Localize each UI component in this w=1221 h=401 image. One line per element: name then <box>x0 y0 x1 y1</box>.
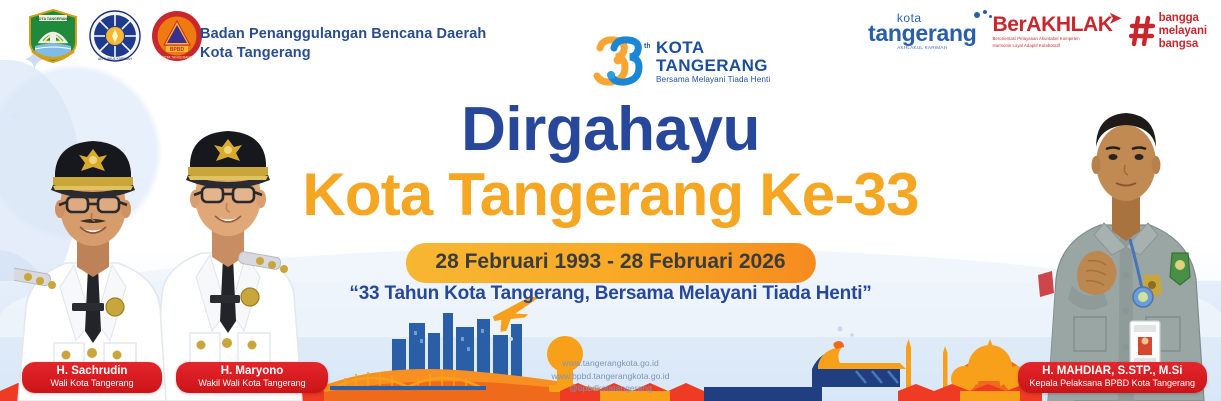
nameplate-bpbd-head-role: Kepala Pelaksana BPBD Kota Tangerang <box>1030 378 1195 389</box>
svg-text:KOTA TANGERANG: KOTA TANGERANG <box>36 17 70 21</box>
website-main: www.tangerangkota.go.id <box>551 357 669 370</box>
bangga-line3: bangsa <box>1159 38 1207 51</box>
anniversary-logo-line1: KOTA <box>656 39 770 56</box>
anniversary-logo-line2: TANGERANG <box>656 57 770 74</box>
akhlakul-karimah-emblem-icon: AKHLAKUL KARIMAH <box>88 8 142 64</box>
svg-text:AKHLAKUL KARIMAH: AKHLAKUL KARIMAH <box>98 57 133 61</box>
anniversary-logo-text: KOTA TANGERANG Bersama Melayani Tiada He… <box>656 39 770 84</box>
nameplate-mayor: H. Sachrudin Wali Kota Tangerang <box>22 362 162 393</box>
agency-crest-group: KOTA TANGERANG <box>26 8 204 64</box>
headline-block: Dirgahayu Kota Tangerang Ke-33 <box>0 98 1221 227</box>
headline-line2: Kota Tangerang Ke-33 <box>0 163 1221 227</box>
nameplate-mayor-name: H. Sachrudin <box>34 365 150 379</box>
svg-text:BPBD: BPBD <box>170 47 185 53</box>
agency-name-line1: Badan Penanggulangan Bencana Daerah <box>200 25 486 44</box>
bangga-wordmark: bangga melayani bangsa <box>1159 12 1207 50</box>
website-bpbd: www.bpbd.tangerangkota.go.id <box>551 370 669 383</box>
anniversary-logo-tagline: Bersama Melayani Tiada Henti <box>656 76 770 84</box>
date-range-badge: 28 Februari 1993 - 28 Februari 2026 <box>405 243 815 283</box>
mosque-with-minarets-icon <box>906 339 1029 393</box>
agency-name-line2: Kota Tangerang <box>200 44 486 63</box>
tagline-quote: “33 Tahun Kota Tangerang, Bersama Melaya… <box>0 283 1221 305</box>
agency-name: Badan Penanggulangan Bencana Daerah Kota… <box>200 25 486 62</box>
anniversary-logo: th KOTA TANGERANG Bersama Melayani Tiada… <box>592 34 770 90</box>
bangga-melayani-bangsa-logo: bangga melayani bangsa <box>1129 12 1207 50</box>
svg-text:th: th <box>644 43 650 50</box>
social-handle: @bpbdkotatangerang <box>551 382 669 395</box>
berakhlak-swoosh-icon: ➤ <box>1109 11 1122 26</box>
bangga-line1: bangga <box>1159 12 1207 25</box>
kota-tangerang-wordmark-big: tangerang <box>868 22 976 45</box>
nameplate-vice-mayor: H. Maryono Wakil Wali Kota Tangerang <box>176 362 328 393</box>
svg-text:KOTA TANGERANG: KOTA TANGERANG <box>162 56 193 60</box>
kota-tangerang-wordmark-logo: kota tangerang AKHLAKUL KARIMAH <box>868 12 976 51</box>
anniversary-33-mark-icon: th <box>592 34 650 90</box>
berakhlak-subtitle-line1: Berorientasi Pelayanan Akuntabel Kompete… <box>992 36 1112 42</box>
berakhlak-logo: ➤ BerAKHLAK Berorientasi Pelayanan Akunt… <box>992 14 1112 49</box>
bangga-hash-icon <box>1129 15 1155 47</box>
brand-logo-group: kota tangerang AKHLAKUL KARIMAH ➤ BerAKH… <box>868 12 1207 51</box>
bpbd-emblem-icon: BPBD KOTA TANGERANG <box>150 8 204 64</box>
web-links: www.tangerangkota.go.id www.bpbd.tangera… <box>551 357 669 395</box>
anniversary-banner: ✦ ✦ KOTA TANGERANG <box>0 0 1221 401</box>
nameplate-bpbd-head-name: H. MAHDIAR, S.STP., M.Si <box>1030 365 1195 379</box>
nameplate-mayor-role: Wali Kota Tangerang <box>34 378 150 389</box>
berakhlak-wordmark: BerAKHLAK <box>992 14 1112 35</box>
kota-tangerang-coat-of-arms-icon: KOTA TANGERANG <box>26 8 80 64</box>
headline-line1: Dirgahayu <box>0 98 1221 161</box>
bangga-line2: melayani <box>1159 25 1207 38</box>
nameplate-vice-mayor-name: H. Maryono <box>188 365 316 379</box>
traditional-boat-icon <box>812 341 906 387</box>
kota-tangerang-wordmark-tagline: AKHLAKUL KARIMAH <box>868 46 976 51</box>
berakhlak-subtitle-line2: Harmonis Loyal Adaptif Kolaboratif <box>992 43 1112 49</box>
nameplate-bpbd-head: H. MAHDIAR, S.STP., M.Si Kepala Pelaksan… <box>1018 362 1207 393</box>
nameplate-vice-mayor-role: Wakil Wali Kota Tangerang <box>188 378 316 389</box>
